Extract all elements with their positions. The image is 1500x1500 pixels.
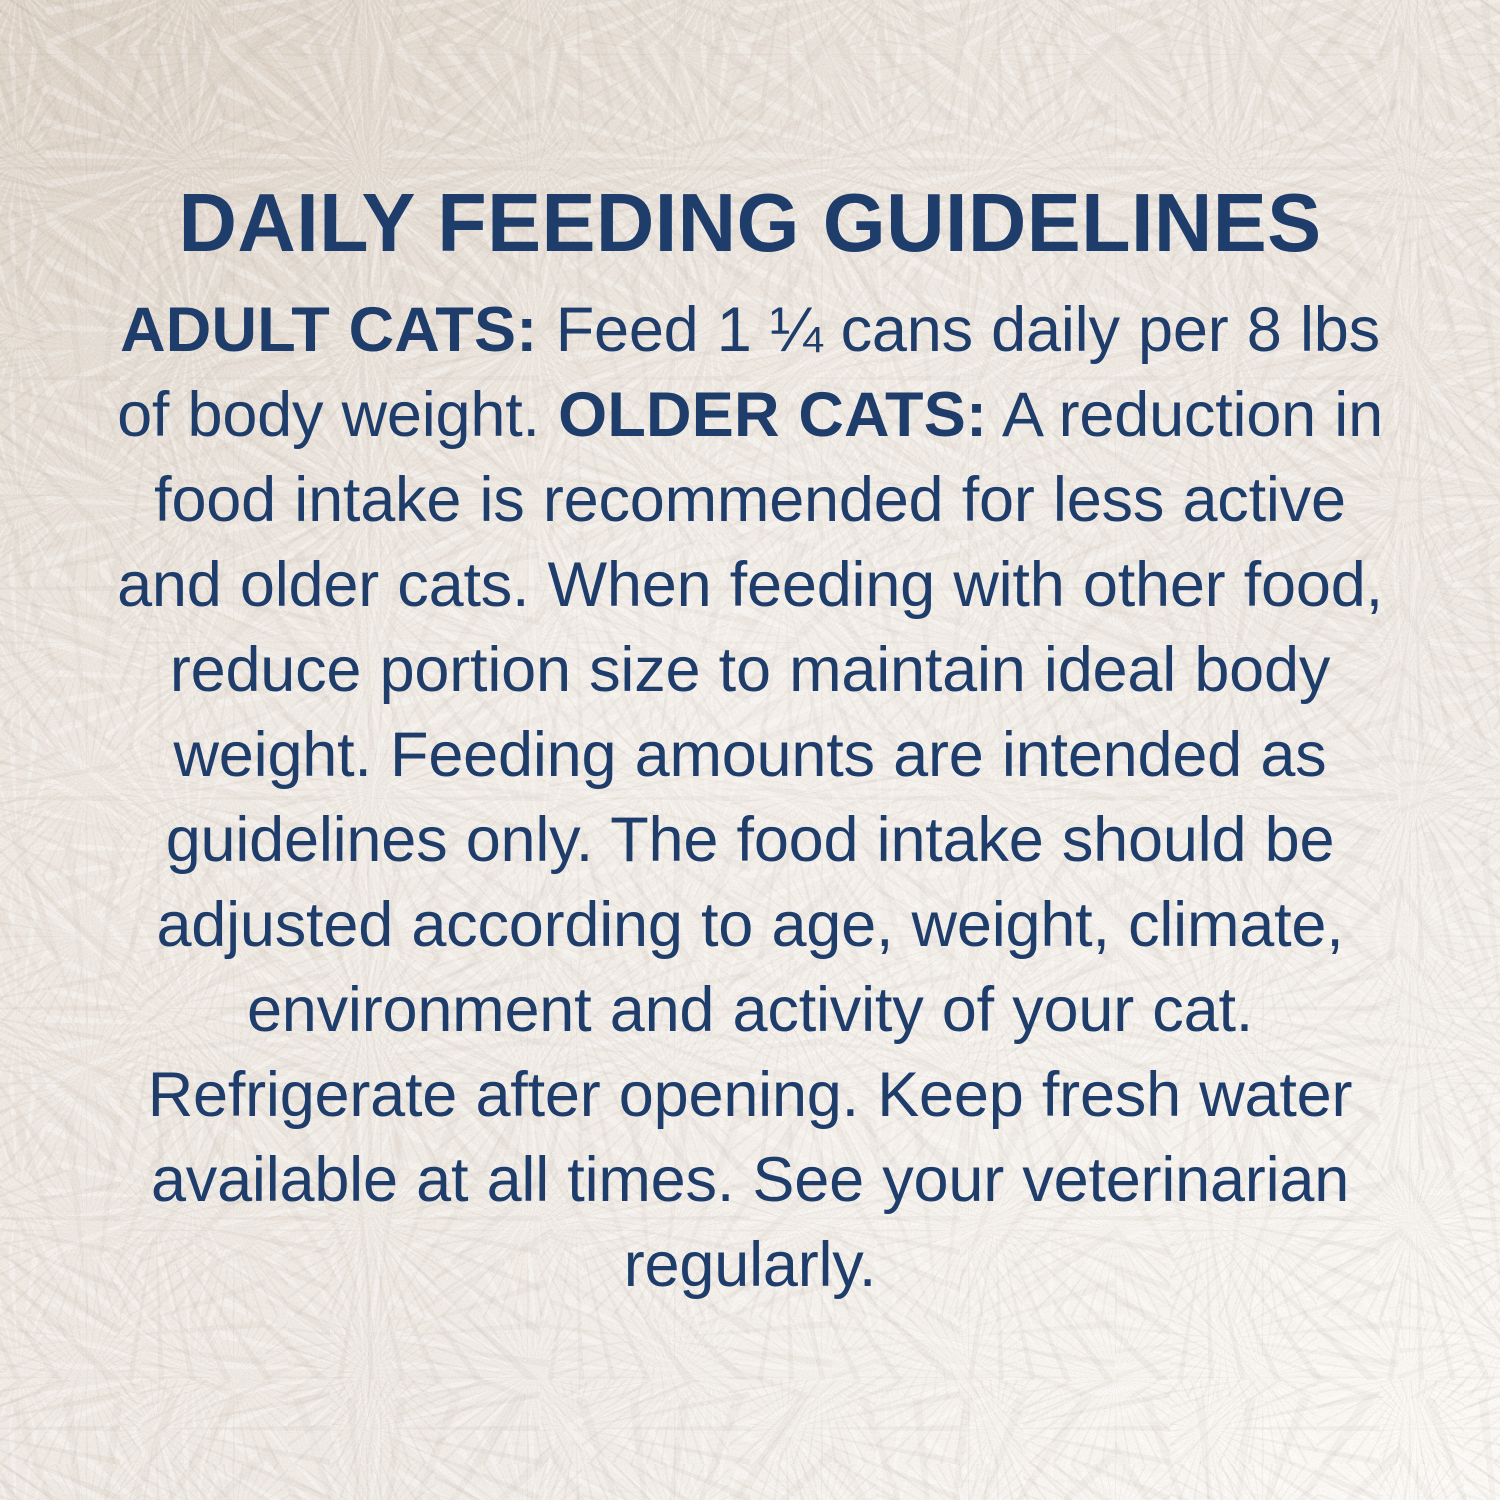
older-cats-label: OLDER CATS: [558, 380, 987, 450]
feeding-guidelines-label: DAILY FEEDING GUIDELINES ADULT CATS: Fee… [0, 0, 1500, 1500]
label-content: DAILY FEEDING GUIDELINES ADULT CATS: Fee… [0, 0, 1500, 1500]
adult-cats-label: ADULT CATS: [120, 295, 537, 365]
page-title: DAILY FEEDING GUIDELINES [11, 183, 1489, 265]
feeding-guidelines-paragraph: ADULT CATS: Feed 1 ¼ cans daily per 8 lb… [108, 288, 1392, 1308]
older-cats-text: A reduction in food intake is recommende… [117, 380, 1383, 1300]
